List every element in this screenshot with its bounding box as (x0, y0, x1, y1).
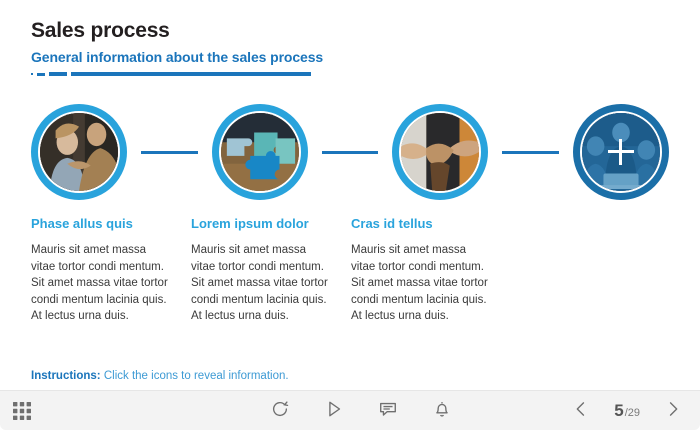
rule-dash-2 (37, 73, 45, 76)
grid-menu-icon[interactable] (12, 401, 32, 421)
comment-icon[interactable] (378, 399, 398, 424)
slide-canvas: Sales process General information about … (0, 0, 700, 430)
process-node-ring-3 (392, 104, 488, 200)
play-icon[interactable] (324, 399, 344, 424)
process-steps (31, 104, 669, 200)
instructions: Instructions: Click the icons to reveal … (31, 369, 289, 384)
info-column-3: Cras id tellus Mauris sit amet massa vit… (351, 216, 511, 325)
total-pages: /29 (625, 407, 640, 419)
rule-dot-1 (31, 73, 33, 75)
column-heading-3: Cras id tellus (351, 216, 511, 232)
info-column-1: Phase allus quis Mauris sit amet massa v… (31, 216, 191, 325)
chevron-right-icon[interactable] (664, 400, 682, 423)
current-page: 5 (614, 401, 623, 421)
instructions-text: Click the icons to reveal information. (104, 370, 289, 382)
process-node-ring-4 (573, 104, 669, 200)
process-node-3[interactable] (392, 104, 488, 200)
process-connector-2 (322, 151, 379, 154)
chevron-left-icon[interactable] (572, 400, 590, 423)
slide-header: Sales process General information about … (31, 18, 651, 76)
page-subtitle: General information about the sales proc… (31, 48, 651, 66)
replay-icon[interactable] (270, 399, 290, 424)
info-column-4-placeholder (511, 216, 671, 325)
column-body-2: Mauris sit amet massa vitae tortor condi… (191, 242, 333, 325)
rule-line-4 (71, 72, 311, 76)
column-heading-2: Lorem ipsum dolor (191, 216, 351, 232)
instructions-label: Instructions: (31, 370, 101, 382)
info-columns: Phase allus quis Mauris sit amet massa v… (31, 216, 669, 325)
process-node-4[interactable] (573, 104, 669, 200)
page-title: Sales process (31, 18, 651, 44)
process-connector-3 (502, 151, 559, 154)
column-body-1: Mauris sit amet massa vitae tortor condi… (31, 242, 173, 325)
process-node-ring-2 (212, 104, 308, 200)
decorative-rule (31, 72, 651, 76)
column-heading-1: Phase allus quis (31, 216, 191, 232)
process-node-2[interactable] (212, 104, 308, 200)
pagination-controls: 5 /29 (572, 391, 682, 430)
process-node-ring-1 (31, 104, 127, 200)
page-indicator: 5 /29 (614, 401, 640, 421)
rule-dash-3 (49, 72, 67, 76)
bell-icon[interactable] (432, 399, 452, 424)
playback-controls (270, 391, 452, 430)
column-body-3: Mauris sit amet massa vitae tortor condi… (351, 242, 493, 325)
info-column-2: Lorem ipsum dolor Mauris sit amet massa … (191, 216, 351, 325)
process-connector-1 (141, 151, 198, 154)
player-toolbar: 5 /29 (0, 390, 700, 430)
process-node-1[interactable] (31, 104, 127, 200)
